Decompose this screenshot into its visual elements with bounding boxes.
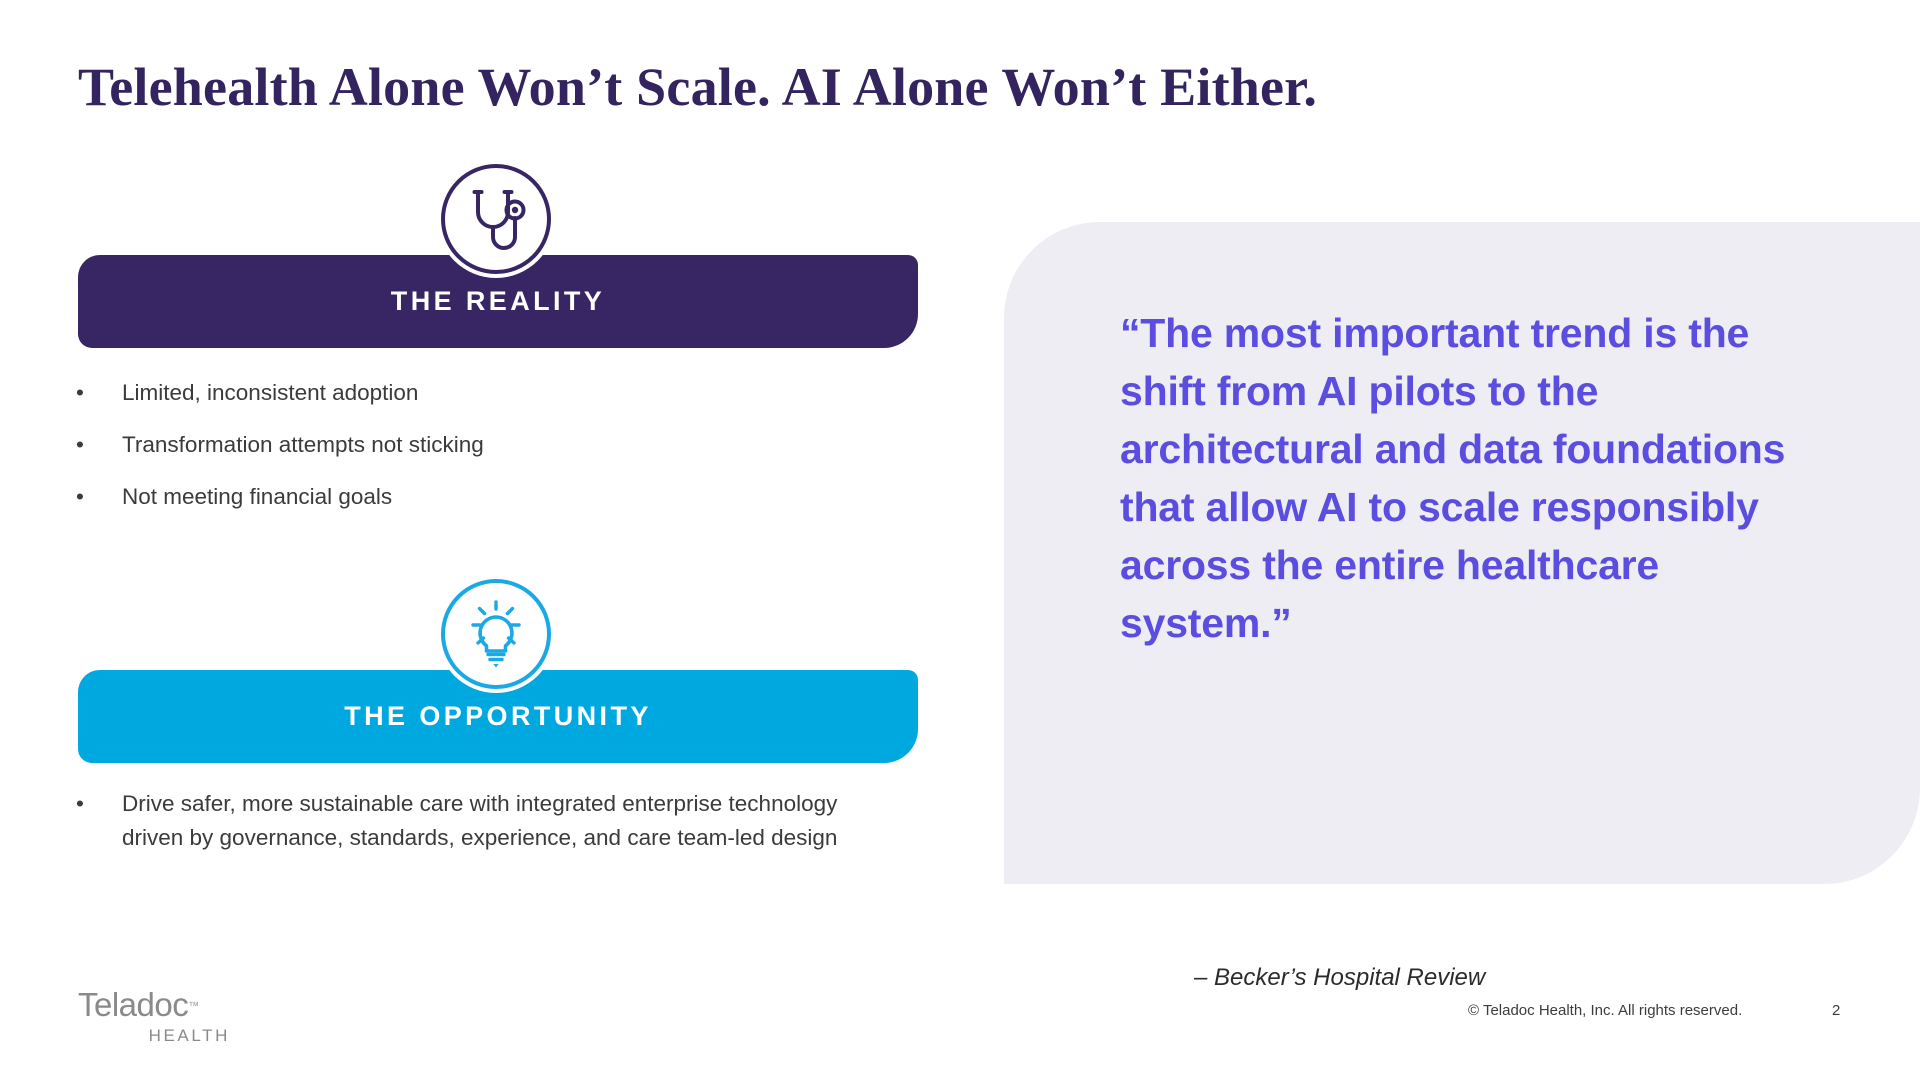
bullet-marker-icon: • [76, 376, 84, 410]
list-item: • Transformation attempts not sticking [72, 428, 902, 462]
quote-card: “The most important trend is the shift f… [1004, 222, 1920, 884]
list-item-label: Limited, inconsistent adoption [122, 380, 418, 405]
logo-subtitle: HEALTH [78, 1026, 230, 1046]
quote-text: “The most important trend is the shift f… [1120, 304, 1820, 652]
teladoc-health-logo: Teladoc™ HEALTH [78, 988, 238, 1046]
page-number: 2 [1832, 1002, 1840, 1019]
logo-wordmark: Teladoc [78, 988, 188, 1021]
list-item-label: Transformation attempts not sticking [122, 432, 484, 457]
lightbulb-icon [437, 575, 555, 693]
reality-banner-label: THE REALITY [391, 286, 605, 317]
bullet-marker-icon: • [76, 480, 84, 514]
list-item: • Limited, inconsistent adoption [72, 376, 902, 410]
bullet-marker-icon: • [76, 787, 84, 821]
opportunity-bullet-list: • Drive safer, more sustainable care wit… [72, 787, 902, 855]
stethoscope-icon [437, 160, 555, 278]
list-item-label: Not meeting financial goals [122, 484, 392, 509]
opportunity-banner-label: THE OPPORTUNITY [344, 701, 652, 732]
copyright-notice: © Teladoc Health, Inc. All rights reserv… [1468, 1002, 1742, 1019]
reality-bullet-list: • Limited, inconsistent adoption • Trans… [72, 376, 902, 532]
bullet-marker-icon: • [76, 428, 84, 462]
list-item: • Not meeting financial goals [72, 480, 902, 514]
left-column: THE REALITY • Limited, inconsistent adop… [0, 0, 960, 1080]
quote-attribution: – Becker’s Hospital Review [1194, 964, 1485, 992]
slide: Telehealth Alone Won’t Scale. AI Alone W… [0, 0, 1920, 1080]
list-item: • Drive safer, more sustainable care wit… [72, 787, 902, 855]
list-item-label: Drive safer, more sustainable care with … [122, 791, 837, 850]
trademark-icon: ™ [188, 1001, 199, 1013]
